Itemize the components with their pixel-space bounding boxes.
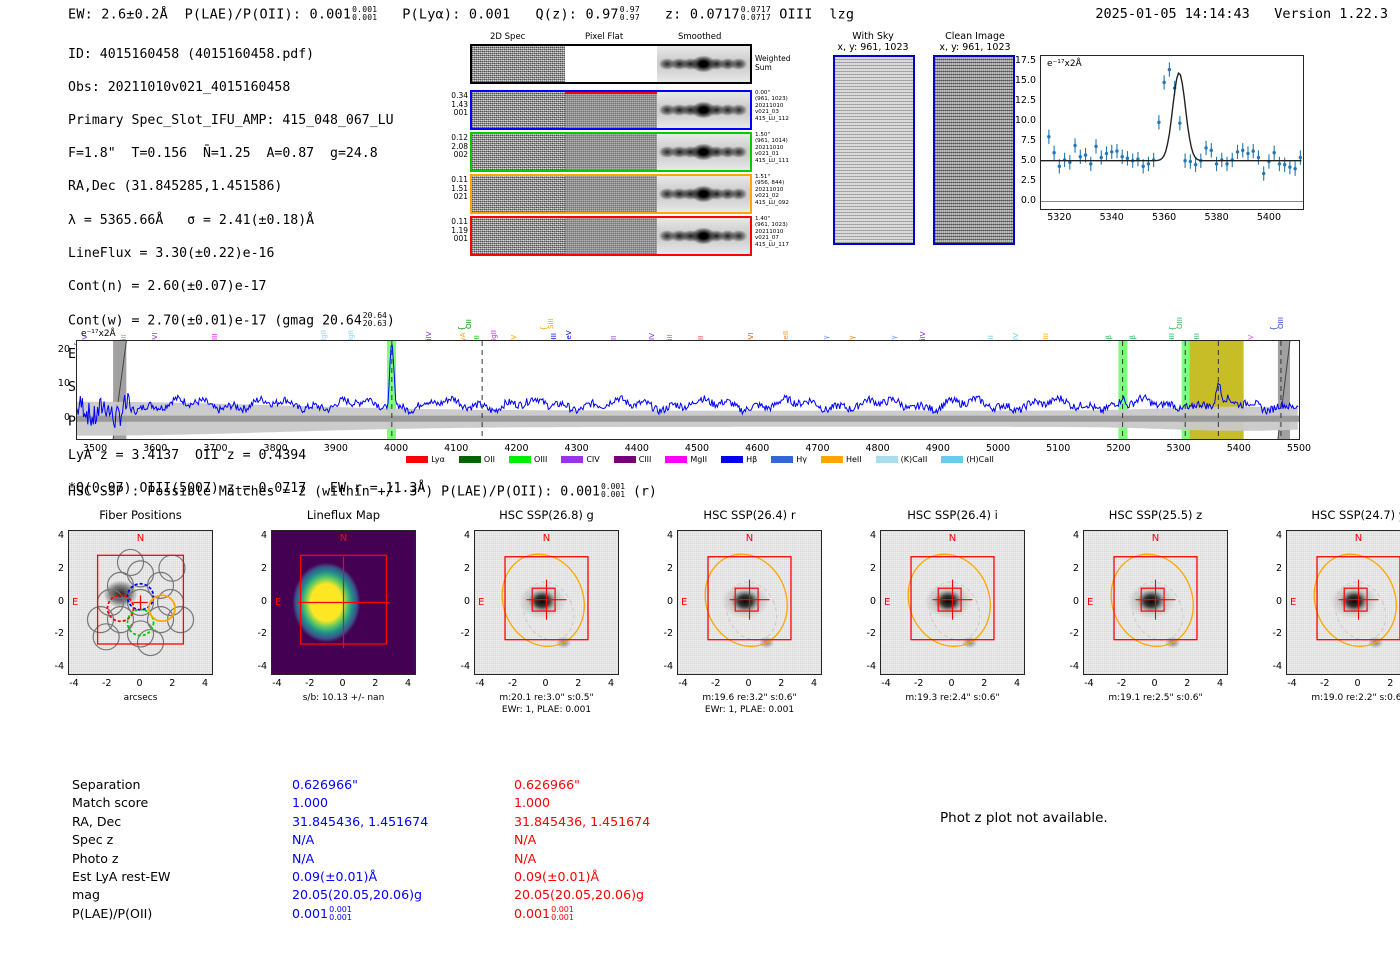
panel-image-4[interactable]: N E (880, 530, 1025, 675)
panel-5-xtick-2: 0 (1140, 678, 1170, 689)
panel-3-ytick-2: 0 (651, 596, 673, 607)
emission-line-brace-7: { (457, 326, 466, 331)
header-qz-label: Q(z): (535, 6, 577, 22)
panel-caption-1: s/b: 10.13 +/- nan (245, 693, 442, 704)
spectrum-ytick: 0 (40, 412, 70, 423)
panel-5-ytick-2: 0 (1057, 596, 1079, 607)
panel-caption2-2: EWr: 1, PLAE: 0.001 (448, 705, 645, 716)
table-row: Est LyA rest-EW0.09(±0.01)Å0.09(±0.01)Å (72, 869, 734, 885)
legend-label-6: Hβ (746, 455, 757, 464)
legend-label-5: MgII (690, 455, 707, 464)
legend-label-8: HeII (846, 455, 862, 464)
panel-2-xtick-0: -4 (465, 678, 495, 689)
panel-1-ytick-1: 2 (245, 563, 267, 574)
match-row-blue-0: 0.626966" (292, 777, 512, 793)
compass-east-4: E (884, 597, 890, 608)
panel-title-4: HSC SSP(26.4) i (862, 508, 1043, 522)
legend-label-0: Lyα (431, 455, 445, 464)
detection-info-block: ID: 4015160458 (4015160458.pdf) Obs: 202… (68, 30, 425, 514)
info-obs: Obs: 20211010v021_4015160458 (68, 80, 425, 97)
panel-caption-4: m:19.3 re:2.4" s:0.6" (854, 693, 1051, 704)
match-row-red-0: 0.626966" (514, 777, 734, 793)
legend-label-1: OII (484, 455, 495, 464)
info-cont-n: Cont(n) = 2.60(±0.07)e-17 (68, 279, 425, 296)
panel-0-ytick-1: 2 (42, 563, 64, 574)
panel-caption-0: arcsecs (42, 693, 239, 704)
legend-item-civ: CIV (561, 455, 599, 464)
header-timestamp-version: 2025-01-05 14:14:43 Version 1.22.3 (1095, 6, 1388, 22)
panel-5-xtick-0: -4 (1074, 678, 1104, 689)
row-meta-3: 1.40" (961, 1023) 20211010 v021_07 415_L… (755, 216, 815, 248)
lp-ytick: 0.0 (1000, 195, 1036, 206)
legend-item-ciii: CIII (614, 455, 652, 464)
panel-3-ytick-0: 4 (651, 530, 673, 541)
legend-swatch-8 (821, 456, 843, 463)
spectrum-legend: LyαOIIOIIICIVCIIIMgIIHβHγHeII(K)CaII(H)C… (0, 455, 1400, 464)
info-lambda: λ = 5365.66Å σ = 2.41(±0.18)Å (68, 213, 425, 230)
header-z-line: OIII (779, 6, 812, 22)
panel-4-ytick-4: -4 (854, 661, 876, 672)
header-plae-label: P(LAE)/P(OII): (185, 6, 302, 22)
panel-2-xtick-2: 0 (531, 678, 561, 689)
lp-xtick: 5380 (1199, 212, 1235, 223)
lineplot-annotation: e⁻¹⁷x2Å (1047, 59, 1082, 69)
with-sky-title: With Skyx, y: 961, 1023 (818, 31, 928, 53)
header-plae-frac: 0.0010.001 (352, 6, 377, 23)
match-row-red-3: N/A (514, 832, 734, 848)
panel-5-xtick-3: 2 (1172, 678, 1202, 689)
info-radec: RA,Dec (31.845285,1.451586) (68, 179, 425, 196)
main-spectrum-plot[interactable]: e⁻¹⁷x2Å (76, 340, 1300, 440)
panel-image-6[interactable]: N E (1286, 530, 1400, 675)
panel-2-ytick-0: 4 (448, 530, 470, 541)
panel-4-ytick-3: -2 (854, 628, 876, 639)
match-row-blue-6: 20.05(20.05,20.06)g (292, 887, 512, 903)
panel-caption2-3: EWr: 1, PLAE: 0.001 (651, 705, 848, 716)
header-z-frac: 0.07170.0717 (741, 6, 771, 23)
match-row-red-5: 0.09(±0.01)Å (514, 869, 734, 885)
header-z-value: 0.0717 (690, 6, 740, 22)
spectrum-xtick: 4000 (374, 443, 418, 454)
emission-line-brace-34: { (1269, 326, 1278, 331)
col-title-2dspec: 2D Spec (490, 32, 525, 42)
panel-1-xtick-1: -2 (295, 678, 325, 689)
legend-swatch-0 (406, 456, 428, 463)
lp-xtick: 5320 (1041, 212, 1077, 223)
legend-item-lyα: Lyα (406, 455, 445, 464)
spec2d-montage: 2D Spec Pixel Flat Smoothed Weighted Sum… (430, 32, 760, 252)
panel-6-xtick-0: -4 (1277, 678, 1307, 689)
spectrum-xtick: 4200 (494, 443, 538, 454)
legend-item-heii: HeII (821, 455, 862, 464)
panel-image-1[interactable]: N E (271, 530, 416, 675)
panel-1-ytick-2: 0 (245, 596, 267, 607)
row-meta-1: 1.50" (961, 1014) 20211010 v021_01 415_L… (755, 132, 815, 164)
header-qz-frac: 0.970.97 (620, 6, 640, 23)
panel-image-0[interactable]: N E (68, 530, 213, 675)
match-row-label-5: Est LyA rest-EW (72, 869, 290, 885)
panel-0-ytick-0: 4 (42, 530, 64, 541)
table-row: P(LAE)/P(OII)0.0010.0010.0010.0010.0010.… (72, 906, 734, 923)
lp-ytick: 5.0 (1000, 155, 1036, 166)
match-row-blue-4: N/A (292, 851, 512, 867)
panel-image-2[interactable]: N E (474, 530, 619, 675)
match-row-red-1: 1.000 (514, 795, 734, 811)
panel-3-xtick-2: 0 (734, 678, 764, 689)
match-row-label-4: Photo z (72, 851, 290, 867)
row-label-3: 0.11 1.19 001 (430, 218, 468, 244)
table-row: Photo zN/AN/A (72, 851, 734, 867)
legend-item-hβ: Hβ (721, 455, 757, 464)
spectrum-xtick: 4400 (615, 443, 659, 454)
weighted-sum-label: Weighted Sum (755, 54, 795, 72)
compass-east-5: E (1087, 597, 1093, 608)
panel-2-xtick-4: 4 (596, 678, 626, 689)
spectrum-xtick: 4800 (856, 443, 900, 454)
match-row-blue-7: 0.0010.0010.001 (292, 906, 512, 923)
legend-label-4: CIII (639, 455, 652, 464)
header-qz-value: 0.97 (585, 6, 618, 22)
header-plae-value: 0.001 (310, 6, 352, 22)
with-sky-cutout[interactable] (833, 55, 915, 245)
panel-6-ytick-4: -4 (1260, 661, 1282, 672)
lp-ytick: 7.5 (1000, 135, 1036, 146)
panel-1-ytick-0: 4 (245, 530, 267, 541)
legend-label-10: (H)CaII (966, 455, 993, 464)
fiber-strip-1[interactable] (470, 132, 752, 172)
panel-0-xtick-4: 4 (190, 678, 220, 689)
panel-3-ytick-3: -2 (651, 628, 673, 639)
header-flag: lzg (829, 6, 854, 22)
panel-5-xtick-4: 4 (1205, 678, 1235, 689)
line-profile-svg (1041, 56, 1303, 209)
compass-north-5: N (1152, 533, 1159, 544)
panel-4-ytick-0: 4 (854, 530, 876, 541)
panel-0-xtick-1: -2 (92, 678, 122, 689)
fiber-strip-0[interactable] (470, 90, 752, 130)
panel-caption-5: m:19.1 re:2.5" s:0.6" (1057, 693, 1254, 704)
spectrum-ytick: 10 (40, 378, 70, 389)
header-summary-line: EW: 2.6±0.2Å P(LAE)/P(OII): 0.0010.0010.… (68, 6, 854, 23)
row-label-2: 0.11 1.51 021 (430, 176, 468, 202)
spectrum-xtick: 5100 (1036, 443, 1080, 454)
legend-label-2: OIII (534, 455, 547, 464)
legend-swatch-5 (665, 456, 687, 463)
table-row: Spec zN/AN/A (72, 832, 734, 848)
fiber-strip-3[interactable] (470, 216, 752, 256)
table-row: Match score1.0001.000 (72, 795, 734, 811)
panel-6-xtick-1: -2 (1310, 678, 1340, 689)
spectrum-xtick: 4500 (675, 443, 719, 454)
panel-2-ytick-2: 0 (448, 596, 470, 607)
compass-north-4: N (949, 533, 956, 544)
panel-0-ytick-2: 0 (42, 596, 64, 607)
lp-xtick: 5400 (1251, 212, 1287, 223)
panel-1-ytick-4: -4 (245, 661, 267, 672)
panel-3-ytick-4: -4 (651, 661, 673, 672)
legend-swatch-9 (876, 456, 898, 463)
match-row-red-2: 31.845436, 1.451674 (514, 814, 734, 830)
panel-6-ytick-0: 4 (1260, 530, 1282, 541)
panel-5-xtick-1: -2 (1107, 678, 1137, 689)
panel-3-xtick-3: 2 (766, 678, 796, 689)
panel-caption-6: m:19.0 re:2.2" s:0.6" (1260, 693, 1400, 704)
legend-item-kcaii: (K)CaII (876, 455, 928, 464)
spectrum-xtick: 5500 (1277, 443, 1321, 454)
panel-2-xtick-1: -2 (498, 678, 528, 689)
lp-xtick: 5360 (1146, 212, 1182, 223)
legend-label-7: Hγ (796, 455, 807, 464)
lp-ytick: 15.0 (1000, 75, 1036, 86)
spectrum-xtick: 3700 (193, 443, 237, 454)
spectrum-xtick: 5400 (1217, 443, 1261, 454)
panel-1-ytick-3: -2 (245, 628, 267, 639)
legend-swatch-1 (459, 456, 481, 463)
match-row-blue-2: 31.845436, 1.451674 (292, 814, 512, 830)
lp-ytick: 10.0 (1000, 115, 1036, 126)
spectrum-xtick: 4300 (555, 443, 599, 454)
row-label-0: 0.34 1.43 001 (430, 92, 468, 118)
panel-2-ytick-1: 2 (448, 563, 470, 574)
legend-swatch-3 (561, 456, 583, 463)
info-lineflux: LineFlux = 3.30(±0.22)e-16 (68, 246, 425, 263)
panel-6-xtick-2: 0 (1343, 678, 1373, 689)
header-plya: P(Lyα): 0.001 (402, 6, 510, 22)
panel-3-xtick-0: -4 (668, 678, 698, 689)
panel-4-ytick-2: 0 (854, 596, 876, 607)
panel-4-xtick-4: 4 (1002, 678, 1032, 689)
lp-ytick: 2.5 (1000, 175, 1036, 186)
panel-4-xtick-0: -4 (871, 678, 901, 689)
col-title-smoothed: Smoothed (678, 32, 721, 42)
panel-caption-3: m:19.6 re:3.2" s:0.6" (651, 693, 848, 704)
row-meta-2: 1.51" (956, 844) 20211010 v021_02 415_LU… (755, 174, 815, 206)
compass-north-1: N (340, 533, 347, 544)
hsc-ssp-heading: HSC-SSP : Possible Matches = 2 (within +… (68, 483, 657, 500)
legend-swatch-10 (941, 456, 963, 463)
match-row-label-0: Separation (72, 777, 290, 793)
compass-east-2: E (478, 597, 484, 608)
lp-ytick: 17.5 (1000, 55, 1036, 66)
col-title-pixelflat: Pixel Flat (585, 32, 623, 42)
emission-line-brace-31: { (1168, 326, 1177, 331)
spectrum-annotation: e⁻¹⁷x2Å (81, 329, 116, 339)
compass-north-0: N (137, 533, 144, 544)
legend-swatch-7 (771, 456, 793, 463)
info-cont-w: Cont(w) = 2.70(±0.01)e-17 (gmag 20.6420.… (68, 312, 425, 330)
spectrum-xtick: 4600 (735, 443, 779, 454)
main-spectrum-svg (77, 341, 1299, 439)
lp-xtick: 5340 (1094, 212, 1130, 223)
spectrum-ytick: 20 (40, 344, 70, 355)
legend-item-mgii: MgII (665, 455, 707, 464)
panel-1-xtick-4: 4 (393, 678, 423, 689)
panel-0-xtick-3: 2 (157, 678, 187, 689)
spectrum-xtick: 3800 (254, 443, 298, 454)
compass-north-6: N (1355, 533, 1362, 544)
lp-ytick: 12.5 (1000, 95, 1036, 106)
weighted-sum-strip (470, 44, 752, 84)
match-row-label-3: Spec z (72, 832, 290, 848)
panel-5-ytick-1: 2 (1057, 563, 1079, 574)
panel-4-xtick-2: 0 (937, 678, 967, 689)
emission-line-brace-12: { (539, 326, 548, 331)
spectrum-xtick: 3600 (133, 443, 177, 454)
photoz-note: Phot z plot not available. (940, 810, 1108, 826)
legend-item-hγ: Hγ (771, 455, 807, 464)
panel-1-xtick-0: -4 (262, 678, 292, 689)
line-profile-plot[interactable]: e⁻¹⁷x2Å (1040, 55, 1304, 210)
panel-0-ytick-3: -2 (42, 628, 64, 639)
legend-label-9: (K)CaII (901, 455, 928, 464)
match-row-red-6: 20.05(20.05,20.06)g (514, 887, 734, 903)
spectrum-xtick: 4700 (795, 443, 839, 454)
compass-north-2: N (543, 533, 550, 544)
match-row-label-7: P(LAE)/P(OII) (72, 906, 290, 923)
legend-item-oii: OII (459, 455, 495, 464)
panel-title-5: HSC SSP(25.5) z (1065, 508, 1246, 522)
match-row-label-2: RA, Dec (72, 814, 290, 830)
table-row: Separation0.626966"0.626966" (72, 777, 734, 793)
spectrum-xtick: 3900 (314, 443, 358, 454)
fiber-strip-2[interactable] (470, 174, 752, 214)
panel-2-xtick-3: 2 (563, 678, 593, 689)
match-row-blue-5: 0.09(±0.01)Å (292, 869, 512, 885)
spectrum-xtick: 5000 (976, 443, 1020, 454)
panel-0-xtick-2: 0 (125, 678, 155, 689)
panel-1-xtick-2: 0 (328, 678, 358, 689)
row-label-1: 0.12 2.08 002 (430, 134, 468, 160)
panel-2-ytick-3: -2 (448, 628, 470, 639)
legend-swatch-4 (614, 456, 636, 463)
panel-title-3: HSC SSP(26.4) r (659, 508, 840, 522)
info-id: ID: 4015160458 (4015160458.pdf) (68, 47, 425, 64)
spectrum-xtick: 5300 (1157, 443, 1201, 454)
legend-swatch-2 (509, 456, 531, 463)
panel-image-5[interactable]: N E (1083, 530, 1228, 675)
clean-image-title: Clean Imagex, y: 961, 1023 (920, 31, 1030, 53)
table-row: RA, Dec31.845436, 1.45167431.845436, 1.4… (72, 814, 734, 830)
spectrum-xtick: 3500 (73, 443, 117, 454)
spectrum-xtick: 4100 (434, 443, 478, 454)
compass-east-3: E (681, 597, 687, 608)
match-table: Separation0.626966"0.626966"Match score1… (70, 775, 736, 925)
panel-1-xtick-3: 2 (360, 678, 390, 689)
compass-east-1: E (275, 597, 281, 608)
panel-0-ytick-4: -4 (42, 661, 64, 672)
table-row: mag20.05(20.05,20.06)g20.05(20.05,20.06)… (72, 887, 734, 903)
compass-east-6: E (1290, 597, 1296, 608)
compass-north-3: N (746, 533, 753, 544)
spectrum-xtick: 4900 (916, 443, 960, 454)
panel-6-ytick-3: -2 (1260, 628, 1282, 639)
panel-5-ytick-3: -2 (1057, 628, 1079, 639)
info-seeing: F=1.8" T=0.156 N̄=1.25 A=0.87 g=24.8 (68, 146, 425, 163)
panel-caption-2: m:20.1 re:3.0" s:0.5" (448, 693, 645, 704)
spectrum-xtick: 5200 (1096, 443, 1140, 454)
compass-east-0: E (72, 597, 78, 608)
row-meta-0: 0.00" (961, 1023) 20211010 v021_03 415_L… (755, 90, 815, 122)
match-row-red-4: N/A (514, 851, 734, 867)
info-primary-spec: Primary Spec_Slot_IFU_AMP: 415_048_067_L… (68, 113, 425, 130)
panel-5-ytick-4: -4 (1057, 661, 1079, 672)
panel-5-ytick-0: 4 (1057, 530, 1079, 541)
panel-6-ytick-2: 0 (1260, 596, 1282, 607)
timestamp: 2025-01-05 14:14:43 (1095, 6, 1249, 22)
version: Version 1.22.3 (1274, 6, 1388, 22)
panel-3-xtick-4: 4 (799, 678, 829, 689)
header-ew: EW: 2.6±0.2Å (68, 6, 168, 22)
panel-title-0: Fiber Positions (50, 508, 231, 522)
panel-6-ytick-1: 2 (1260, 563, 1282, 574)
panel-2-ytick-4: -4 (448, 661, 470, 672)
panel-image-3[interactable]: N E (677, 530, 822, 675)
panel-title-2: HSC SSP(26.8) g (456, 508, 637, 522)
panel-6-xtick-3: 2 (1375, 678, 1400, 689)
legend-item-hcaii: (H)CaII (941, 455, 993, 464)
panel-4-ytick-1: 2 (854, 563, 876, 574)
panel-0-xtick-0: -4 (59, 678, 89, 689)
panel-4-xtick-1: -2 (904, 678, 934, 689)
match-row-blue-1: 1.000 (292, 795, 512, 811)
match-row-label-1: Match score (72, 795, 290, 811)
panel-3-ytick-1: 2 (651, 563, 673, 574)
panel-title-6: HSC SSP(24.7) y (1268, 508, 1400, 522)
panel-3-xtick-1: -2 (701, 678, 731, 689)
header-z-label: z: (665, 6, 682, 22)
match-row-red-7: 0.0010.0010.001 (514, 906, 734, 923)
legend-swatch-6 (721, 456, 743, 463)
legend-label-3: CIV (586, 455, 599, 464)
panel-4-xtick-3: 2 (969, 678, 999, 689)
match-row-label-6: mag (72, 887, 290, 903)
legend-item-oiii: OIII (509, 455, 547, 464)
panel-title-1: Lineflux Map (253, 508, 434, 522)
match-row-blue-3: N/A (292, 832, 512, 848)
